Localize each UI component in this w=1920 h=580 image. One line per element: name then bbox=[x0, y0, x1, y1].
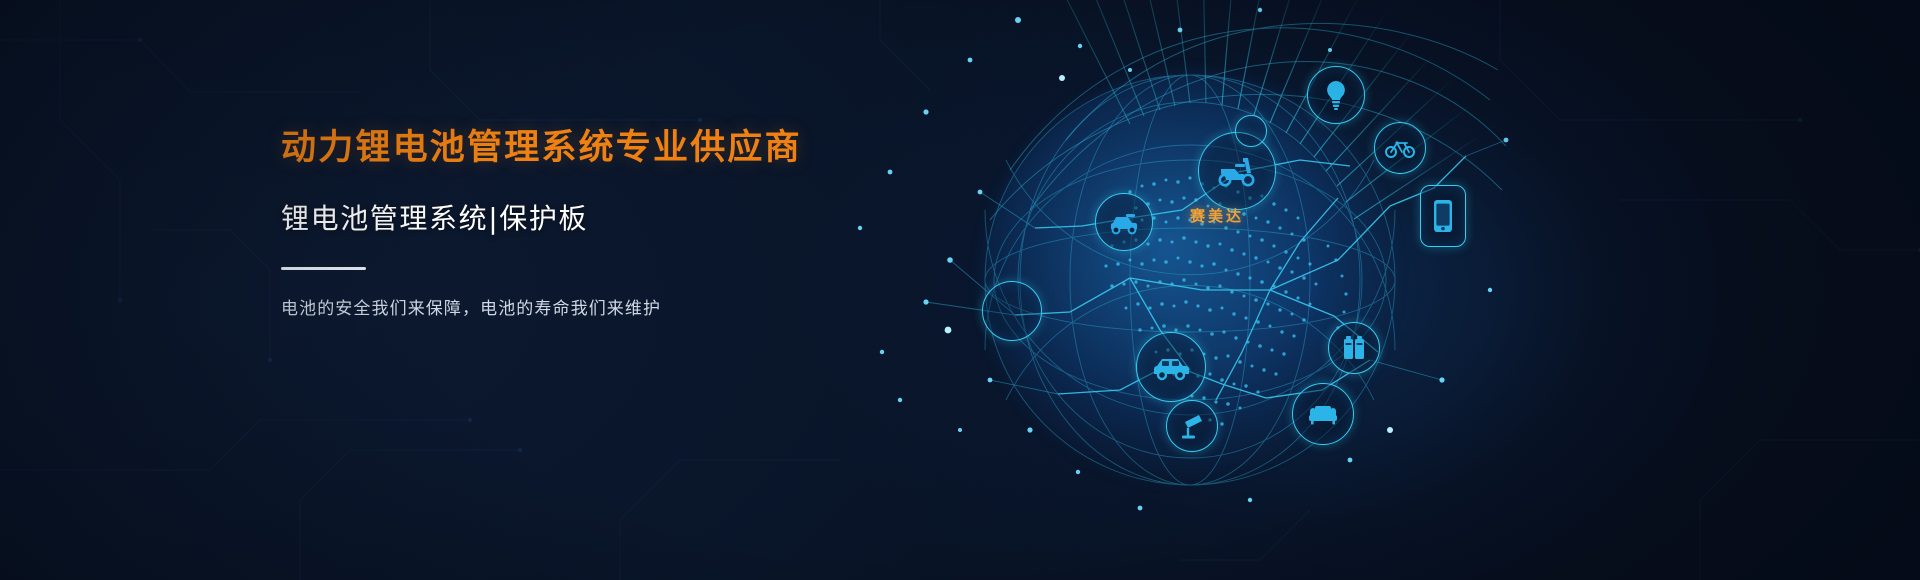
node-desk-lamp[interactable] bbox=[1166, 400, 1218, 452]
node-phone[interactable] bbox=[1420, 185, 1466, 247]
node-battery-pack[interactable] bbox=[1328, 322, 1380, 374]
hero-banner: 动力锂电池管理系统专业供应商 锂电池管理系统|保护板 电池的安全我们来保障，电池… bbox=[0, 0, 1920, 580]
title-divider bbox=[281, 267, 366, 270]
sofa-icon bbox=[1306, 402, 1340, 426]
desk-lamp-icon bbox=[1179, 412, 1205, 440]
globe-graphic: 赛美达 bbox=[830, 0, 1510, 580]
node-lightbulb[interactable] bbox=[1307, 66, 1365, 124]
node-bicycle[interactable] bbox=[1374, 122, 1426, 174]
node-scooter[interactable] bbox=[1198, 132, 1276, 210]
lightbulb-icon bbox=[1324, 80, 1348, 110]
node-sedan[interactable] bbox=[1136, 332, 1206, 402]
globe-center-label: 赛美达 bbox=[1190, 205, 1244, 226]
battery-pack-icon bbox=[1341, 334, 1367, 362]
globe-network-svg bbox=[830, 0, 1510, 580]
node-sofa[interactable] bbox=[1292, 383, 1354, 445]
scooter-icon bbox=[1217, 155, 1257, 187]
node-empty-center[interactable] bbox=[1235, 115, 1267, 147]
node-empty-left[interactable] bbox=[982, 281, 1042, 341]
bicycle-icon bbox=[1385, 137, 1415, 159]
sedan-icon bbox=[1151, 353, 1191, 381]
node-car-front[interactable] bbox=[1095, 193, 1153, 251]
empty-node-icon bbox=[1012, 311, 1013, 312]
car-front-icon bbox=[1108, 209, 1140, 235]
empty-node-icon bbox=[1251, 131, 1252, 132]
phone-icon bbox=[1433, 199, 1453, 233]
